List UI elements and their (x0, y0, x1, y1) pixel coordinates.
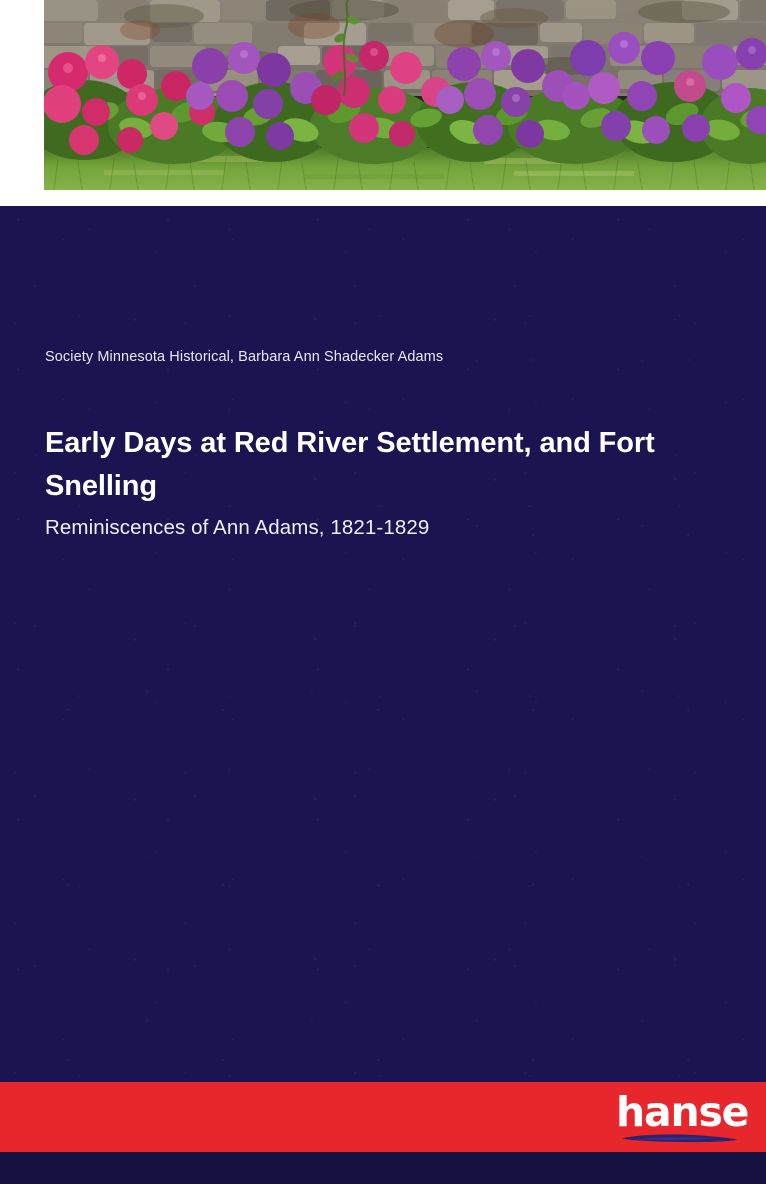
hanse-logo: hanse (616, 1088, 744, 1146)
book-title: Early Days at Red River Settlement, and … (45, 422, 665, 508)
cover-text-block: Society Minnesota Historical, Barbara An… (45, 348, 685, 541)
book-subtitle: Reminiscences of Ann Adams, 1821-1829 (45, 514, 685, 541)
bottom-navy-strip (0, 1152, 766, 1184)
book-cover: Society Minnesota Historical, Barbara An… (0, 0, 766, 1184)
hanse-swoosh-icon (620, 1133, 740, 1143)
publisher-band: hanse (0, 1082, 766, 1152)
hanse-wordmark: hanse (616, 1087, 744, 1137)
author-line: Society Minnesota Historical, Barbara An… (45, 348, 685, 366)
hydrangea-garden-stone-wall-photo (44, 0, 766, 190)
